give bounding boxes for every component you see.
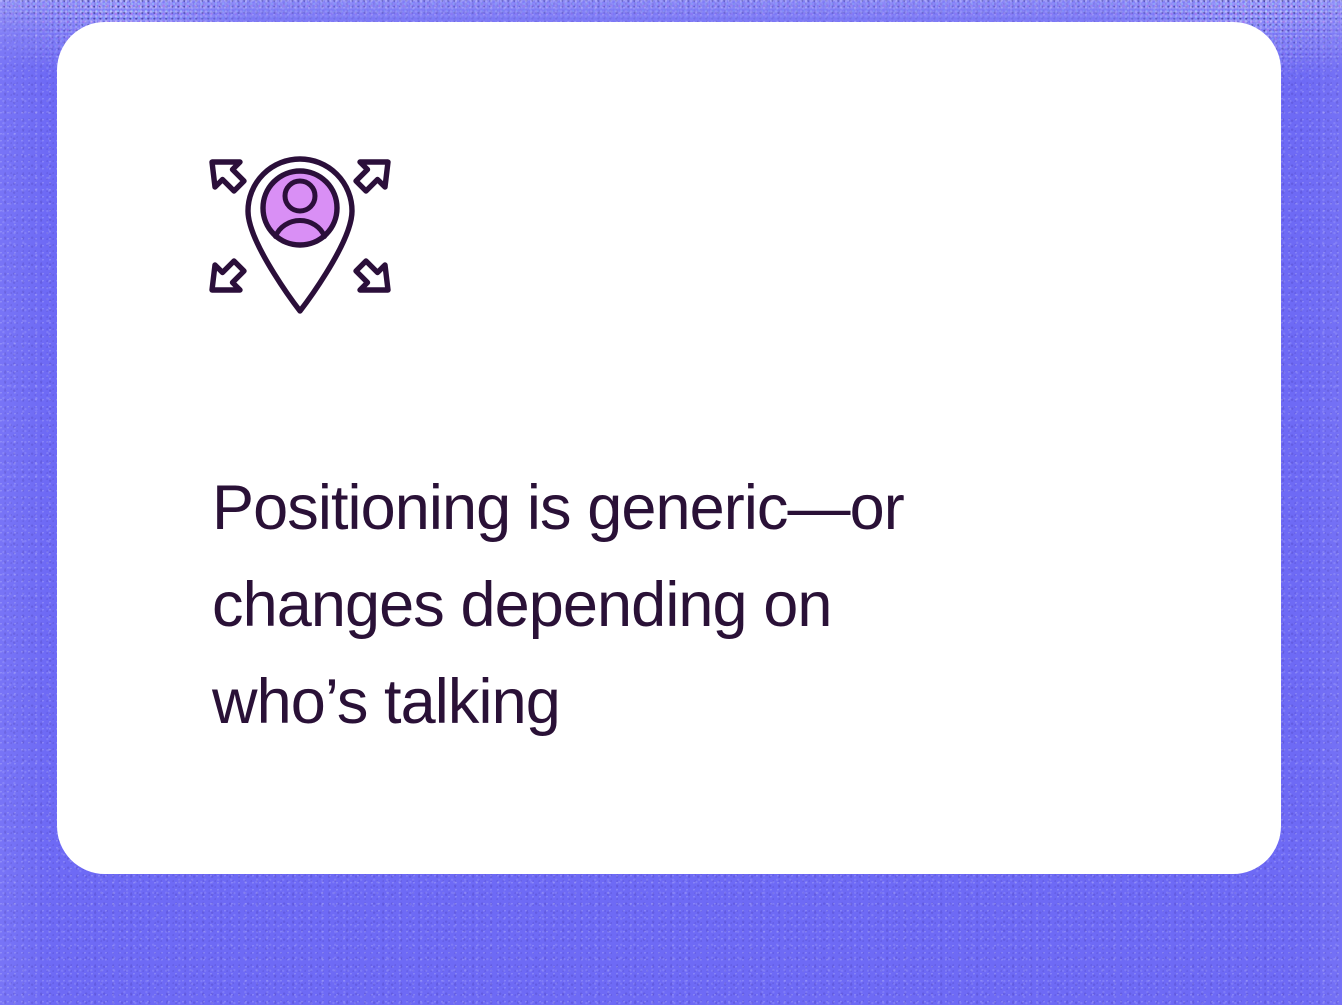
content-card: Positioning is generic—or changes depend… xyxy=(57,22,1281,874)
page-title-line-2: changes depending on xyxy=(212,557,1112,654)
page-title: Positioning is generic—or changes depend… xyxy=(212,460,1112,751)
slide-canvas: Positioning is generic—or changes depend… xyxy=(0,0,1342,1005)
page-title-line-3: who’s talking xyxy=(212,654,1112,751)
page-title-line-1: Positioning is generic—or xyxy=(212,460,1112,557)
location-pin-person-expand-icon xyxy=(200,126,400,326)
